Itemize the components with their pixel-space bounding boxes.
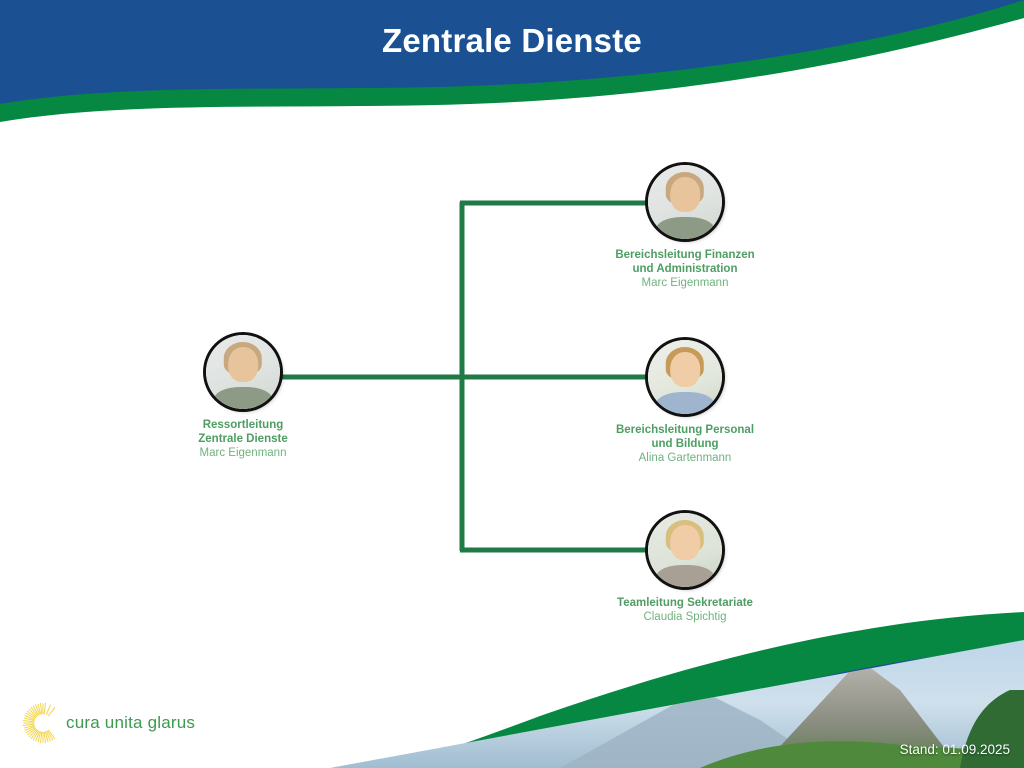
org-node-person: Marc Eigenmann — [133, 446, 353, 460]
org-node-role: Bereichsleitung Personal und Bildung — [575, 423, 795, 451]
org-node-role: Ressortleitung Zentrale Dienste — [133, 418, 353, 446]
org-node-person: Marc Eigenmann — [575, 276, 795, 290]
org-node-child-1[interactable]: Bereichsleitung Finanzen und Administrat… — [575, 165, 795, 290]
role-line-1: Bereichsleitung Personal — [575, 423, 795, 437]
logo: cura unita glarus — [22, 700, 195, 746]
org-node-role: Teamleitung Sekretariate — [575, 596, 795, 610]
org-node-person: Claudia Spichtig — [575, 610, 795, 624]
org-node-person: Alina Gartenmann — [575, 451, 795, 465]
logo-text: cura unita glarus — [66, 713, 195, 733]
role-line-1: Bereichsleitung Finanzen — [575, 248, 795, 262]
date-stamp: Stand: 01.09.2025 — [900, 742, 1010, 757]
page-title: Zentrale Dienste — [0, 22, 1024, 60]
role-line-1: Ressortleitung — [133, 418, 353, 432]
role-line-2: und Administration — [575, 262, 795, 276]
role-line-2: und Bildung — [575, 437, 795, 451]
org-node-role: Bereichsleitung Finanzen und Administrat… — [575, 248, 795, 276]
role-line-1: Teamleitung Sekretariate — [575, 596, 795, 610]
role-line-2: Zentrale Dienste — [133, 432, 353, 446]
org-node-root[interactable]: Ressortleitung Zentrale Dienste Marc Eig… — [133, 335, 353, 460]
sunburst-icon — [22, 702, 64, 744]
org-node-child-2[interactable]: Bereichsleitung Personal und Bildung Ali… — [575, 340, 795, 465]
portrait-alina-gartenmann-icon — [648, 340, 722, 414]
slide-canvas: Zentrale Dienste — [0, 0, 1024, 768]
portrait-claudia-spichtig-icon — [648, 513, 722, 587]
portrait-marc-eigenmann-icon — [648, 165, 722, 239]
org-node-child-3[interactable]: Teamleitung Sekretariate Claudia Spichti… — [575, 513, 795, 624]
org-chart: Ressortleitung Zentrale Dienste Marc Eig… — [0, 0, 1024, 768]
avatar — [648, 513, 722, 587]
avatar — [648, 340, 722, 414]
avatar — [648, 165, 722, 239]
avatar — [206, 335, 280, 409]
portrait-marc-eigenmann-icon — [206, 335, 280, 409]
